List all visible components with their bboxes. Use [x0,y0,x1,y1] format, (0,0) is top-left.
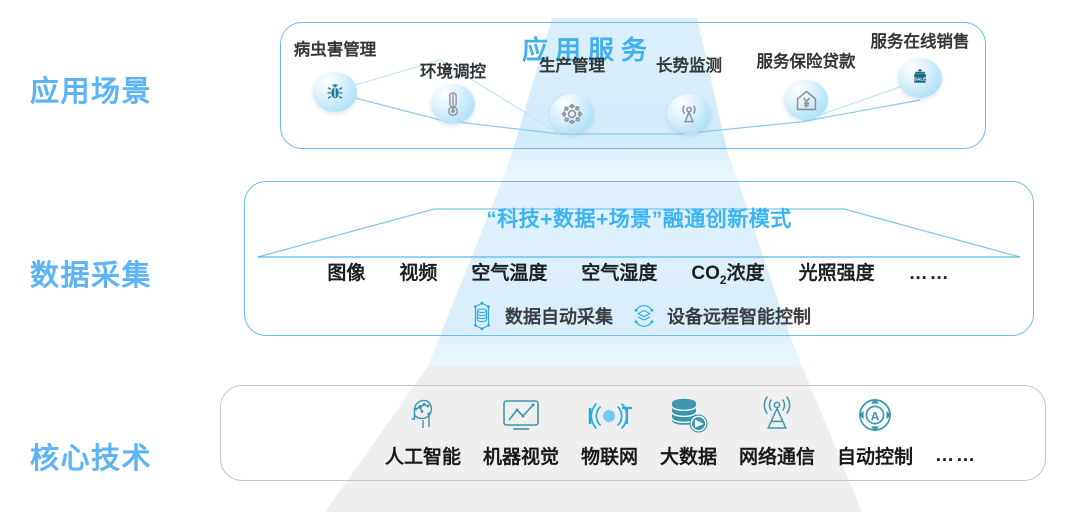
node-sphere [313,72,357,112]
tech-item-label: 大数据 [660,442,717,469]
data-item: 空气温度 [471,258,547,285]
tech-item-label: 物联网 [581,442,638,469]
feature-remote-device-control: 设备远程智能控制 [629,300,811,332]
node-label: 服务在线销售 [871,28,970,52]
data-items-ellipsis: …… [909,263,951,285]
ai-brain-icon [403,392,443,440]
antenna-signal-icon [677,102,701,126]
node-sphere [667,94,711,134]
tech-item-label: 自动控制 [837,442,913,469]
data-item: 视频 [399,258,437,285]
diagram-canvas: 应用场景 数据采集 核心技术 应用服务 病虫害管理 [0,0,1080,512]
node-label: 环境调控 [420,58,486,82]
data-collection-features: 数据自动采集 设备远程智能控制 [244,300,1034,332]
core-technology-items: 人工智能 机器视觉 [220,392,1046,469]
data-item: 图像 [327,258,365,285]
node-label: 服务保险贷款 [757,48,856,72]
tech-item-machine-vision[interactable]: 机器视觉 [483,392,559,469]
data-item-co2: CO2浓度 [691,258,764,287]
auto-control-icon: A [853,392,897,440]
tech-item-iot[interactable]: 物联网 [581,392,638,469]
node-sphere [431,84,475,124]
tech-item-label: 人工智能 [385,442,461,469]
house-yuan-icon [794,88,819,113]
node-sphere [550,94,594,134]
feature-auto-data-collection: 数据自动采集 [467,300,613,332]
node-label: 生产管理 [539,52,605,76]
tech-item-network-comm[interactable]: 网络通信 [739,392,815,469]
iot-icon [584,392,634,440]
tech-item-auto-control[interactable]: A 自动控制 [837,392,913,469]
svg-text:A: A [871,410,880,424]
database-network-icon [467,300,497,332]
tech-item-label: 网络通信 [739,442,815,469]
tech-item-bigdata[interactable]: 大数据 [660,392,717,469]
layers-network-icon [629,300,659,332]
bug-icon [324,81,346,103]
node-label: 长势监测 [656,52,722,76]
svg-text:SALE: SALE [914,76,927,82]
data-collection-items: 图像 视频 空气温度 空气湿度 CO2浓度 光照强度 …… [244,258,1034,287]
feature-label: 设备远程智能控制 [667,303,811,329]
bigdata-database-icon [667,392,711,440]
sale-tag-icon: SALE [909,67,931,89]
tech-item-ai[interactable]: 人工智能 [385,392,461,469]
data-card-title: “科技+数据+场景”融通创新模式 [244,203,1034,233]
antenna-tower-icon [755,392,799,440]
thermometer-icon [445,91,461,117]
feature-label: 数据自动采集 [505,303,613,329]
tech-items-ellipsis: …… [935,445,977,469]
node-label: 病虫害管理 [294,36,377,60]
data-item: 空气湿度 [581,258,657,285]
monitor-chart-icon [499,392,543,440]
node-sphere: SALE [898,58,942,98]
node-sphere [784,80,828,120]
gear-icon [560,102,584,126]
data-item: 光照强度 [799,258,875,285]
tech-item-label: 机器视觉 [483,442,559,469]
